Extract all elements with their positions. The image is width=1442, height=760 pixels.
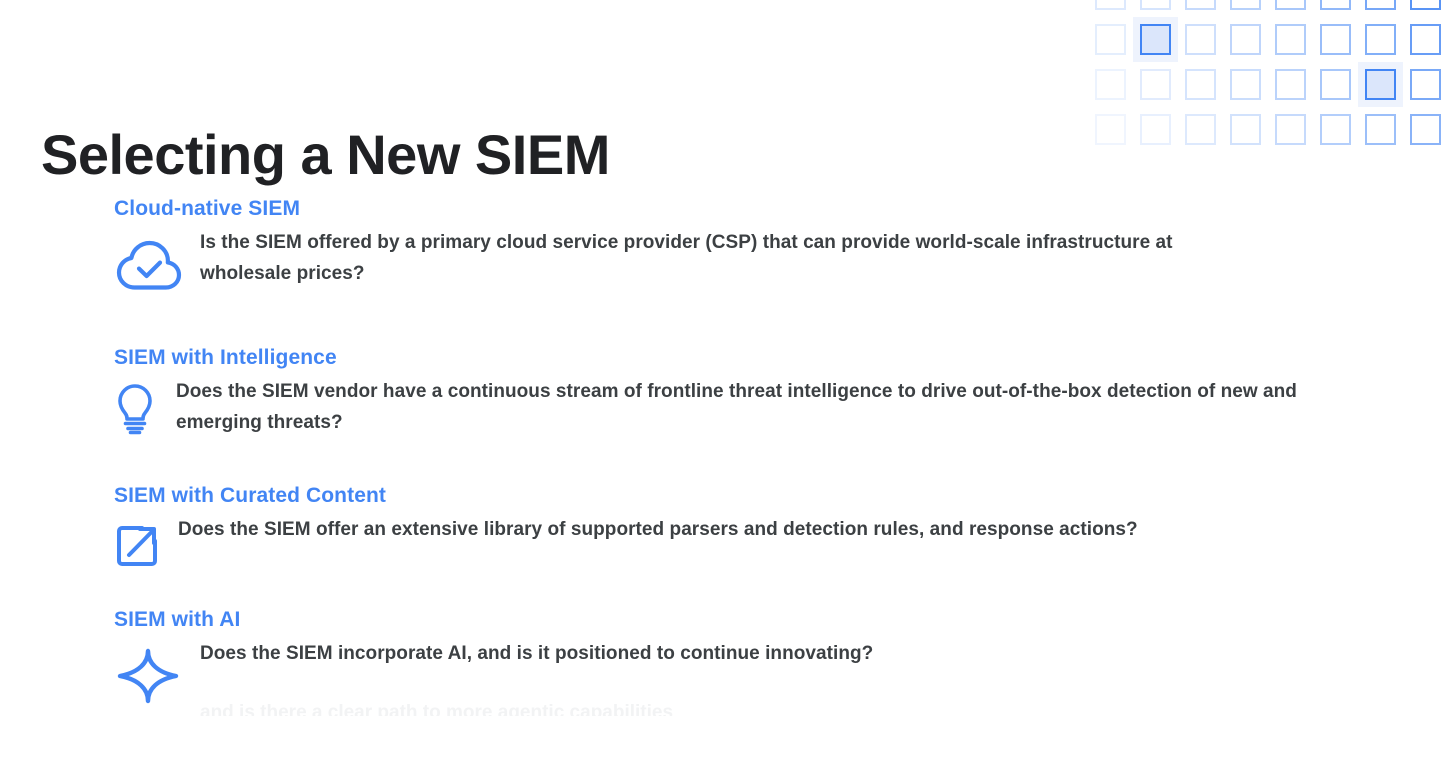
grid-cell bbox=[1268, 62, 1313, 107]
grid-cell bbox=[1403, 107, 1442, 152]
grid-cell bbox=[1358, 0, 1403, 17]
grid-cell-highlighted bbox=[1133, 17, 1178, 62]
grid-cell bbox=[1403, 62, 1442, 107]
section-heading-ai: SIEM with AI bbox=[114, 607, 873, 633]
grid-cell bbox=[1403, 0, 1442, 17]
grid-cell bbox=[1223, 17, 1268, 62]
grid-cell bbox=[1178, 62, 1223, 107]
section-cloud-native: Cloud-native SIEM Is the SIEM offered by… bbox=[114, 196, 1260, 292]
grid-cell bbox=[1088, 17, 1133, 62]
open-in-new-icon bbox=[114, 523, 160, 569]
clipped-text: and is there a clear path to more agenti… bbox=[200, 702, 1200, 716]
section-heading-cloud-native: Cloud-native SIEM bbox=[114, 196, 1260, 222]
grid-cell bbox=[1088, 62, 1133, 107]
section-text-intelligence: Does the SIEM vendor have a continuous s… bbox=[176, 377, 1306, 438]
grid-cell bbox=[1133, 107, 1178, 152]
cloud-check-icon bbox=[114, 238, 184, 292]
grid-cell bbox=[1133, 62, 1178, 107]
grid-cell bbox=[1223, 107, 1268, 152]
lightbulb-icon bbox=[114, 383, 156, 435]
section-body: Does the SIEM vendor have a continuous s… bbox=[114, 377, 1306, 438]
grid-cell bbox=[1403, 17, 1442, 62]
square-grid-pattern bbox=[1088, 0, 1442, 132]
section-curated: SIEM with Curated Content Does the SIEM … bbox=[114, 483, 1138, 569]
grid-cell bbox=[1178, 0, 1223, 17]
grid-cell bbox=[1313, 17, 1358, 62]
section-text-ai-clipped: and is there a clear path to more agenti… bbox=[200, 702, 1200, 716]
section-heading-intelligence: SIEM with Intelligence bbox=[114, 345, 1306, 371]
section-body: Does the SIEM offer an extensive library… bbox=[114, 515, 1138, 569]
sparkle-icon bbox=[114, 647, 182, 705]
grid-cell bbox=[1313, 0, 1358, 17]
grid-cell bbox=[1178, 17, 1223, 62]
section-text-cloud-native: Is the SIEM offered by a primary cloud s… bbox=[200, 228, 1260, 289]
section-ai: SIEM with AI Does the SIEM incorporate A… bbox=[114, 607, 873, 705]
grid-cell bbox=[1358, 17, 1403, 62]
grid-cell bbox=[1313, 62, 1358, 107]
grid-cell bbox=[1178, 107, 1223, 152]
grid-cell bbox=[1088, 107, 1133, 152]
section-body: Is the SIEM offered by a primary cloud s… bbox=[114, 228, 1260, 292]
section-text-curated: Does the SIEM offer an extensive library… bbox=[178, 515, 1138, 545]
grid-cell bbox=[1358, 107, 1403, 152]
grid-cell bbox=[1268, 107, 1313, 152]
grid-cell bbox=[1088, 0, 1133, 17]
page-title: Selecting a New SIEM bbox=[41, 124, 610, 186]
grid-cell bbox=[1313, 107, 1358, 152]
grid-cell-highlighted bbox=[1358, 62, 1403, 107]
grid-cell bbox=[1268, 0, 1313, 17]
section-intelligence: SIEM with Intelligence Does the SIEM ven… bbox=[114, 345, 1306, 438]
section-heading-curated: SIEM with Curated Content bbox=[114, 483, 1138, 509]
grid-cell bbox=[1223, 0, 1268, 17]
section-body: Does the SIEM incorporate AI, and is it … bbox=[114, 639, 873, 705]
grid-cell bbox=[1268, 17, 1313, 62]
slide-canvas: Selecting a New SIEM Cloud-native SIEM I… bbox=[0, 0, 1442, 760]
section-text-ai: Does the SIEM incorporate AI, and is it … bbox=[200, 639, 873, 669]
grid-cell bbox=[1223, 62, 1268, 107]
grid-cell bbox=[1133, 0, 1178, 17]
